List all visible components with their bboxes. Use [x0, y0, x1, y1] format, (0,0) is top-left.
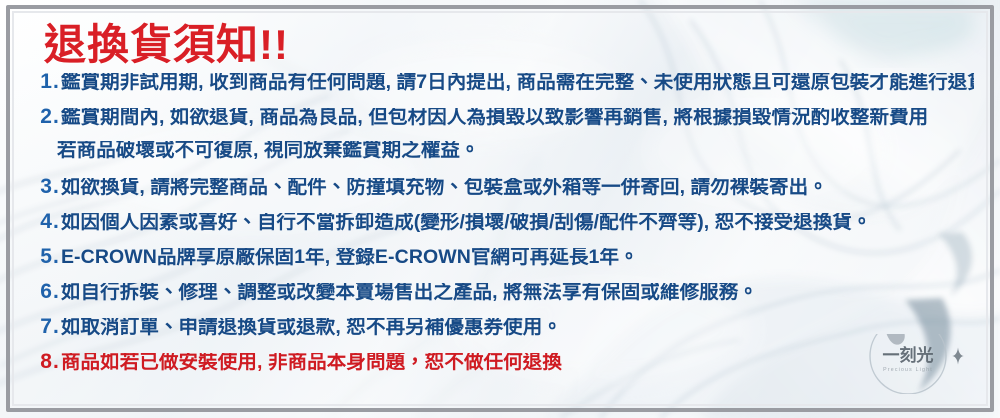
- list-item-separator: .: [53, 351, 59, 372]
- list-item-text: 如因個人因素或喜好、自行不當拆卸造成(變形/損壞/破損/刮傷/配件不齊等), 恕…: [61, 213, 872, 233]
- list-item-text: 鑑賞期非試用期, 收到商品有任何問題, 請7日內提出, 商品需在完整、未使用狀態…: [61, 73, 974, 93]
- list-item-text: 若商品破壞或不可復原, 視同放棄鑑賞期之權益。: [57, 141, 480, 161]
- list-item-separator: .: [53, 106, 59, 127]
- policy-list: 1.鑑賞期非試用期, 收到商品有任何問題, 請7日內提出, 商品需在完整、未使用…: [26, 71, 974, 386]
- list-item: 3.如欲換貨, 請將完整商品、配件、防撞填充物、包裝盒或外箱等一併寄回, 請勿裸…: [30, 176, 974, 211]
- list-item-number: 2: [30, 106, 52, 127]
- list-item-text: 如取消訂單、申請退換貨或退款, 恕不再另補優惠券使用。: [61, 318, 562, 338]
- list-item-separator: .: [53, 176, 59, 197]
- list-item-separator: .: [53, 71, 59, 92]
- list-item-separator: .: [53, 281, 59, 302]
- list-item-number: 8: [30, 351, 52, 372]
- list-item-separator: .: [53, 246, 59, 267]
- banner-content: 退換貨須知!! 1.鑑賞期非試用期, 收到商品有任何問題, 請7日內提出, 商品…: [0, 0, 1000, 418]
- list-item-separator: .: [53, 316, 59, 337]
- list-item-continuation: 若商品破壞或不可復原, 視同放棄鑑賞期之權益。: [30, 141, 974, 176]
- list-item-text: 如自行拆裝、修理、調整或改變本賣場售出之產品, 將無法享有保固或維修服務。: [61, 283, 758, 303]
- list-item-text: 如欲換貨, 請將完整商品、配件、防撞填充物、包裝盒或外箱等一併寄回, 請勿裸裝寄…: [61, 178, 828, 198]
- list-item: 6.如自行拆裝、修理、調整或改變本賣場售出之產品, 將無法享有保固或維修服務。: [30, 281, 974, 316]
- list-item: 1.鑑賞期非試用期, 收到商品有任何問題, 請7日內提出, 商品需在完整、未使用…: [30, 71, 974, 106]
- list-item-text: E-CROWN品牌享原廠保固1年, 登錄E-CROWN官網可再延長1年。: [61, 248, 639, 268]
- list-item-text: 鑑賞期間內, 如欲退貨, 商品為良品, 但包材因人為損毀以致影響再銷售, 將根據…: [61, 108, 928, 128]
- list-item: 5.E-CROWN品牌享原廠保固1年, 登錄E-CROWN官網可再延長1年。: [30, 246, 974, 281]
- list-item-highlighted: 8.商品如若已做安裝使用, 非商品本身問題，恕不做任何退換: [30, 351, 974, 386]
- list-item-number: 5: [30, 246, 52, 267]
- list-item-text: 商品如若已做安裝使用, 非商品本身問題，恕不做任何退換: [61, 353, 562, 373]
- list-item-number: 7: [30, 316, 52, 337]
- list-item: 2.鑑賞期間內, 如欲退貨, 商品為良品, 但包材因人為損毀以致影響再銷售, 將…: [30, 106, 974, 141]
- list-item-number: 1: [30, 71, 52, 92]
- list-item: 4.如因個人因素或喜好、自行不當拆卸造成(變形/損壞/破損/刮傷/配件不齊等),…: [30, 211, 974, 246]
- page-title: 退換貨須知!!: [44, 22, 974, 67]
- return-policy-banner: 退換貨須知!! 1.鑑賞期非試用期, 收到商品有任何問題, 請7日內提出, 商品…: [0, 0, 1000, 418]
- list-item-number: 4: [30, 211, 52, 232]
- list-item-number: 3: [30, 176, 52, 197]
- list-item-separator: .: [53, 211, 59, 232]
- list-item: 7.如取消訂單、申請退換貨或退款, 恕不再另補優惠券使用。: [30, 316, 974, 351]
- list-item-number: 6: [30, 281, 52, 302]
